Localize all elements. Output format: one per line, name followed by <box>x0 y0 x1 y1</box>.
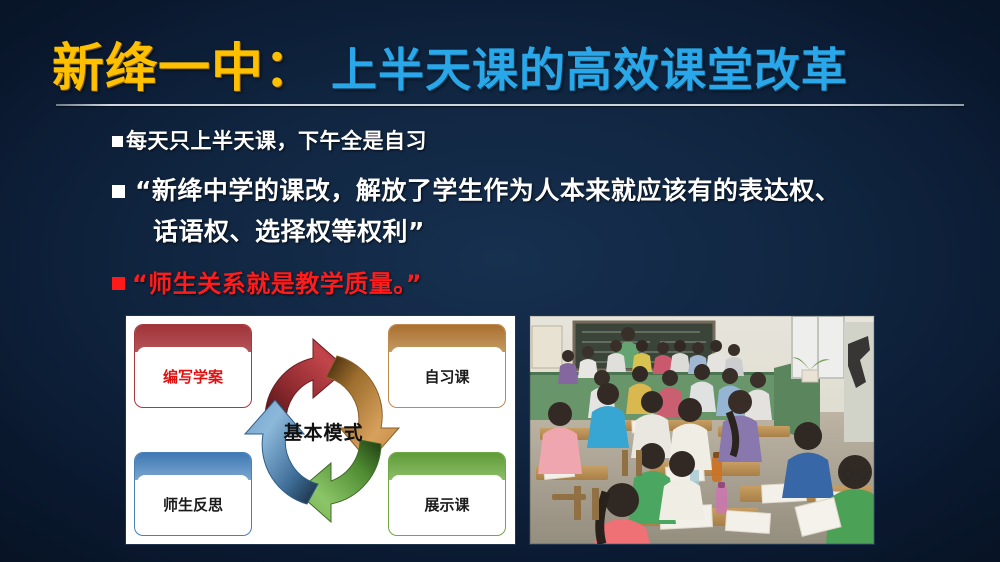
bullet-item-3: “师生关系就是教学质量。” <box>112 266 952 302</box>
cycle-arrows-group: 基本模式 <box>241 322 406 538</box>
classroom-photo-image <box>530 316 874 544</box>
bullet-item-2-line-1: “新绛中学的课改，解放了学生作为人本来就应该有的表达权、 <box>135 170 840 211</box>
diagram-node-bottom-left: 师生反思 <box>134 452 252 536</box>
bullet-item-2-line-2: 话语权、选择权等权利” <box>135 211 840 252</box>
diagram-node-top-right-label: 自习课 <box>391 347 503 405</box>
bullet-item-3-text: “师生关系就是教学质量。” <box>132 266 422 302</box>
cycle-diagram-panel: 编写学案 自习课 师生反思 展示课 <box>126 316 515 544</box>
bullet-item-2-text: “新绛中学的课改，解放了学生作为人本来就应该有的表达权、 话语权、选择权等权利” <box>135 170 840 252</box>
blue-arrow-up <box>245 400 318 504</box>
bullet-list: 每天只上半天课，下午全是自习 “新绛中学的课改，解放了学生作为人本来就应该有的表… <box>112 126 952 302</box>
red-square-bullet-icon <box>112 277 125 290</box>
bullet-item-2: “新绛中学的课改，解放了学生作为人本来就应该有的表达权、 话语权、选择权等权利” <box>112 170 952 252</box>
diagram-node-top-left-label: 编写学案 <box>137 347 249 405</box>
diagram-node-bottom-left-label: 师生反思 <box>137 475 249 533</box>
slide-canvas: 新绛一中： 上半天课的高效课堂改革 每天只上半天课，下午全是自习 “新绛中学的课… <box>0 0 1000 562</box>
diagram-center-label: 基本模式 <box>241 418 406 445</box>
slide-title: 新绛一中： 上半天课的高效课堂改革 <box>52 26 848 101</box>
classroom-photo <box>530 316 874 544</box>
title-subject: 上半天课的高效课堂改革 <box>331 34 848 100</box>
square-bullet-icon <box>112 136 123 147</box>
diagram-node-top-left: 编写学案 <box>134 324 252 408</box>
title-divider-rule <box>56 104 964 106</box>
diagram-node-bottom-right-label: 展示课 <box>391 475 503 533</box>
bullet-item-1: 每天只上半天课，下午全是自习 <box>112 126 952 156</box>
bullet-item-1-text: 每天只上半天课，下午全是自习 <box>126 126 427 156</box>
square-bullet-icon <box>112 185 125 198</box>
title-school-name: 新绛一中： <box>52 26 317 101</box>
